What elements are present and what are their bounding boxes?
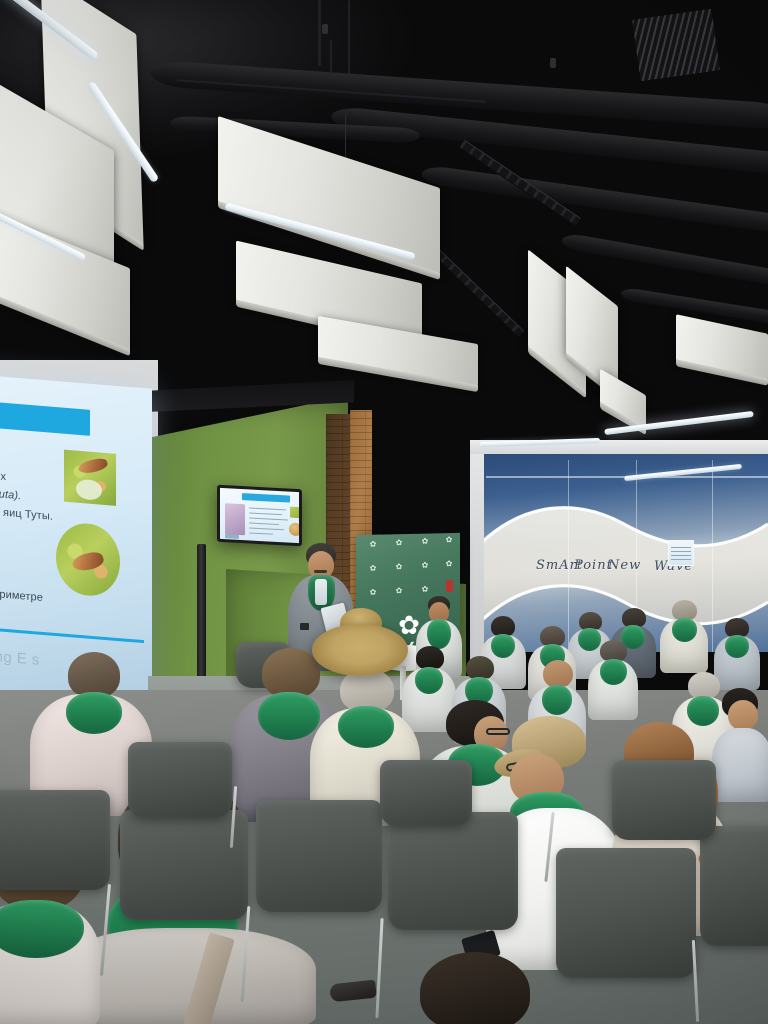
slide-line-2: absoluta). [0,486,21,502]
tv-bullet-line [249,522,279,525]
tv-thumb-pupa [289,523,299,537]
tv-slide-header-bar [242,493,290,503]
slide-header-bar [0,400,90,436]
banner-logo: ✿ [416,561,434,569]
slide-line-3: по 60 яиц Туты. [0,504,53,523]
audience-member [588,640,638,718]
chair [700,826,768,946]
chair [256,800,382,912]
slide-line-4: в периметре [0,587,43,604]
presenter-badge [300,623,309,630]
chair [556,848,696,978]
head [728,700,758,730]
banner-logo: ✿ [440,560,458,568]
chair [128,742,232,818]
straw-hat-brim [312,624,408,676]
banner-logo: ✿ [416,585,434,593]
ceiling-baffle [676,314,768,380]
ceiling-duct [420,164,768,234]
glass-mullion [712,460,713,652]
audience-member-straw-hat [312,606,408,716]
tv-bullet-line [249,517,288,520]
audience-member [660,600,708,672]
slide-image-larva [56,521,120,598]
slide-line-1: ылых [0,469,6,483]
ceiling-conduit [330,40,332,74]
presenter-moustache [314,570,327,573]
banner-logo: ✿ [390,563,408,571]
banner-logo: ✿ [390,539,408,547]
hair [420,952,530,1024]
banner-logo: ✿ [390,587,408,595]
green-scarf [725,635,749,658]
ceiling-conduit [348,0,350,74]
ceiling-duct [560,232,768,288]
green-scarf [542,685,572,715]
poster-behind-glass [668,540,694,566]
tv-bullet-line [249,532,273,534]
wall-script-word-3: New [608,558,641,573]
audience-member-front [400,952,580,1024]
green-scarf [672,618,697,642]
green-scarf [491,634,515,658]
leaf-hole-shape [76,479,102,501]
ceiling [0,0,768,420]
banner-logo: ✿ [364,565,382,573]
tv-thumb-leaf-damage [225,503,245,535]
wall-mounted-tv [217,485,302,546]
tv-thumb-green-square [290,507,299,519]
head [543,660,573,688]
slide-divider-rule [0,626,144,643]
ceiling-conduit [318,0,321,66]
panelist-scarf [427,619,451,649]
banner-logo: ✿ [416,537,434,545]
ceiling-vent-grille [632,9,720,82]
presenter-shirt [315,579,327,605]
sprinkler-head [550,58,556,68]
chair [380,760,472,826]
green-scarf [600,659,627,685]
tv-bullet-line [249,527,284,530]
photo-scene: ылых absoluta). по 60 яиц Туты. в периме… [0,0,768,1024]
sprinkler-head [322,24,328,34]
banner-logo: ✿ [364,541,382,549]
banner-logo: ✿ [440,536,458,544]
chair [120,810,248,920]
wall-sign-red [446,580,453,592]
banner-logo: ✿ [364,589,382,597]
ceiling-baffle [600,369,646,430]
green-scarf [66,692,122,734]
tv-bullet-line [249,512,282,515]
tv-stand-pole [197,544,206,686]
tv-bullet-line [249,507,286,510]
tv-screen [220,488,299,543]
wall-script-word-2: Point [574,558,613,573]
chair [612,760,716,840]
ceiling-truss [432,248,525,338]
chair [0,790,110,890]
moth-shape [77,457,109,476]
slide-image-moth [64,450,116,506]
chair [388,812,518,930]
larva-shape [70,550,105,573]
tv-footer-logo [225,534,239,539]
